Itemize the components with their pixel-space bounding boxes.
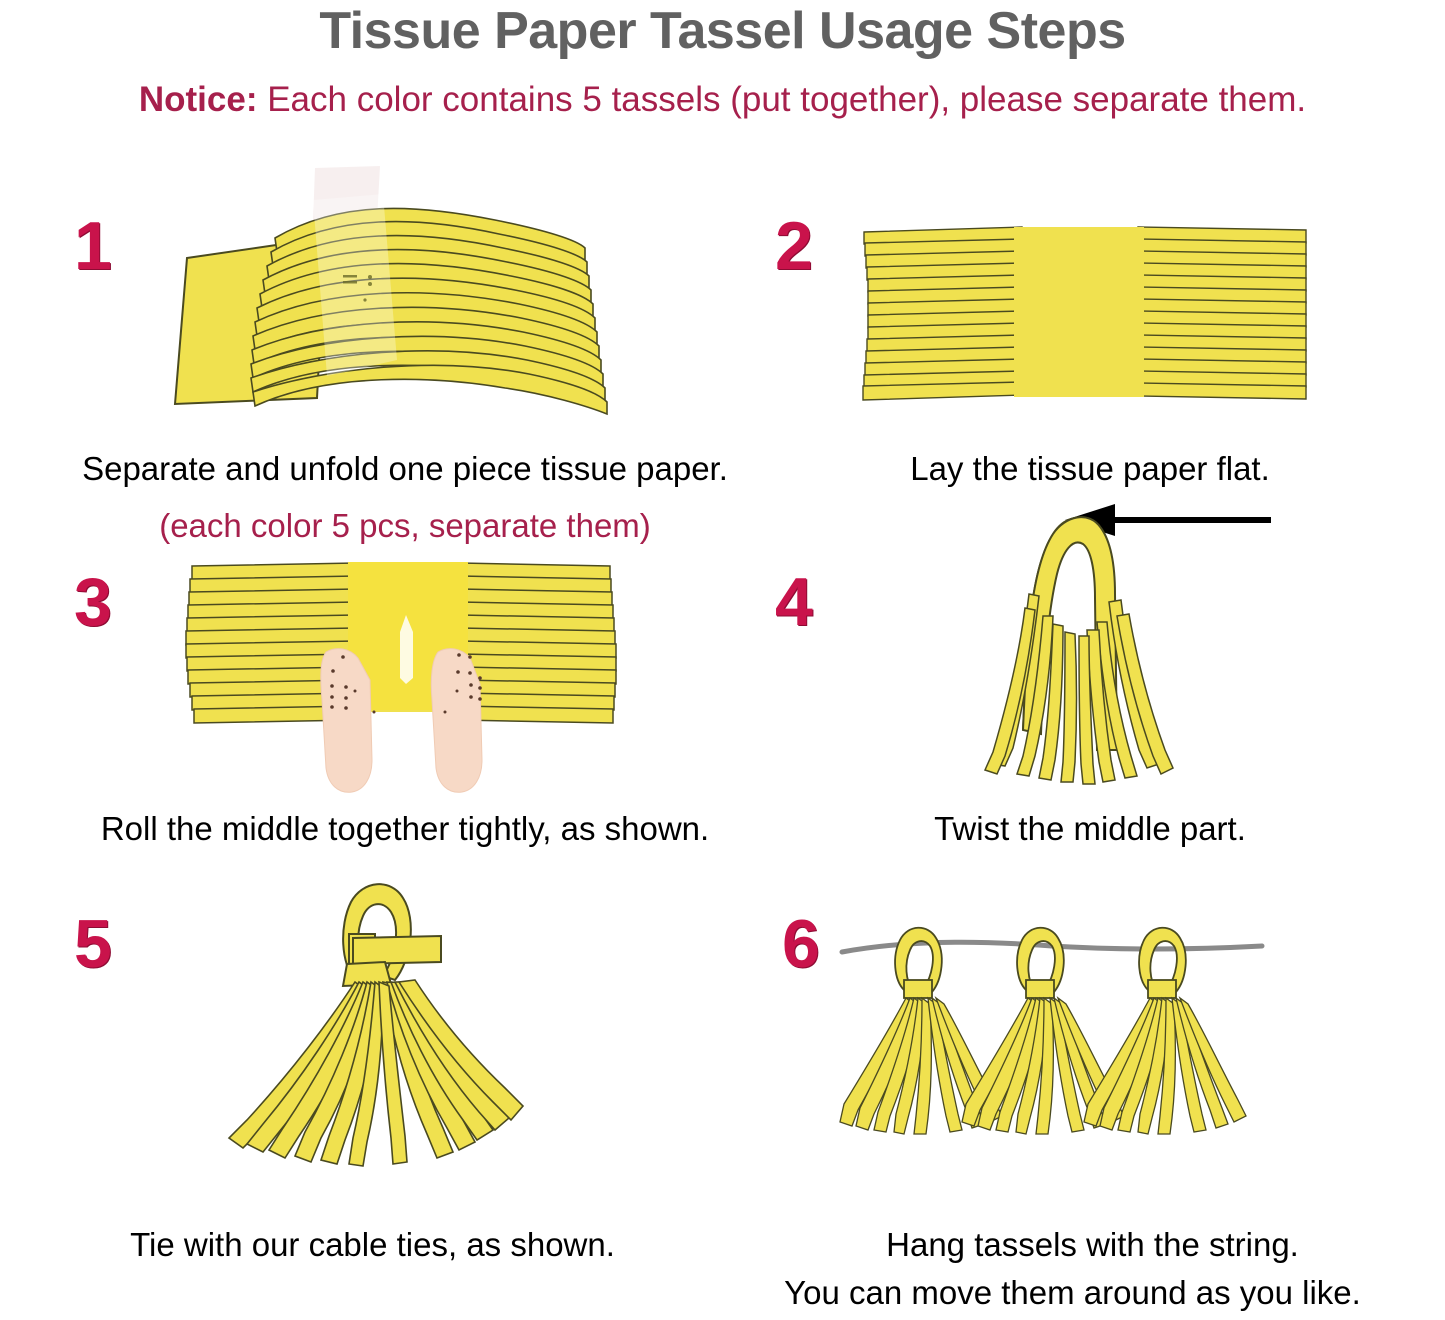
notice-text: Each color contains 5 tassels (put toget… <box>257 80 1306 119</box>
hands-rolling-middle-illustration <box>180 560 620 800</box>
step-6-caption: Hang tassels with the string. <box>740 1224 1445 1266</box>
step-4-caption: Twist the middle part. <box>760 808 1420 850</box>
twisted-folded-tassel-illustration <box>935 498 1295 798</box>
step-3-illustration <box>180 560 620 800</box>
step-4-illustration <box>935 498 1295 798</box>
notice-line: Notice: Each color contains 5 tassels (p… <box>0 81 1445 120</box>
step-number-4: 4 <box>775 568 813 636</box>
folded-tissue-stack-illustration <box>165 160 615 430</box>
notice-label: Notice: <box>139 80 258 119</box>
step-number-5: 5 <box>74 910 112 978</box>
step-number-2: 2 <box>775 212 813 280</box>
tied-tassel-with-cable-tie-illustration <box>205 872 545 1192</box>
step-5-illustration <box>205 872 545 1192</box>
step-number-6: 6 <box>782 910 820 978</box>
instruction-poster: Tissue Paper Tassel Usage Steps Notice: … <box>0 0 1445 1320</box>
step-2-illustration <box>862 222 1312 402</box>
step-number-3: 3 <box>74 568 112 636</box>
tassel-3 <box>1084 928 1246 1134</box>
step-6-illustration <box>838 918 1268 1188</box>
flat-fringed-tissue-illustration <box>862 222 1312 402</box>
step-1-subcaption: (each color 5 pcs, separate them) <box>0 505 810 547</box>
step-6-subcaption: You can move them around as you like. <box>700 1272 1445 1314</box>
three-tassels-on-string-illustration <box>838 918 1268 1188</box>
step-1-illustration <box>165 160 615 430</box>
step-3-caption: Roll the middle together tightly, as sho… <box>0 808 810 850</box>
step-1-caption: Separate and unfold one piece tissue pap… <box>0 448 810 490</box>
page-title: Tissue Paper Tassel Usage Steps <box>0 0 1445 59</box>
step-number-1: 1 <box>74 212 112 280</box>
step-2-caption: Lay the tissue paper flat. <box>760 448 1420 490</box>
step-5-caption: Tie with our cable ties, as shown. <box>0 1224 745 1266</box>
